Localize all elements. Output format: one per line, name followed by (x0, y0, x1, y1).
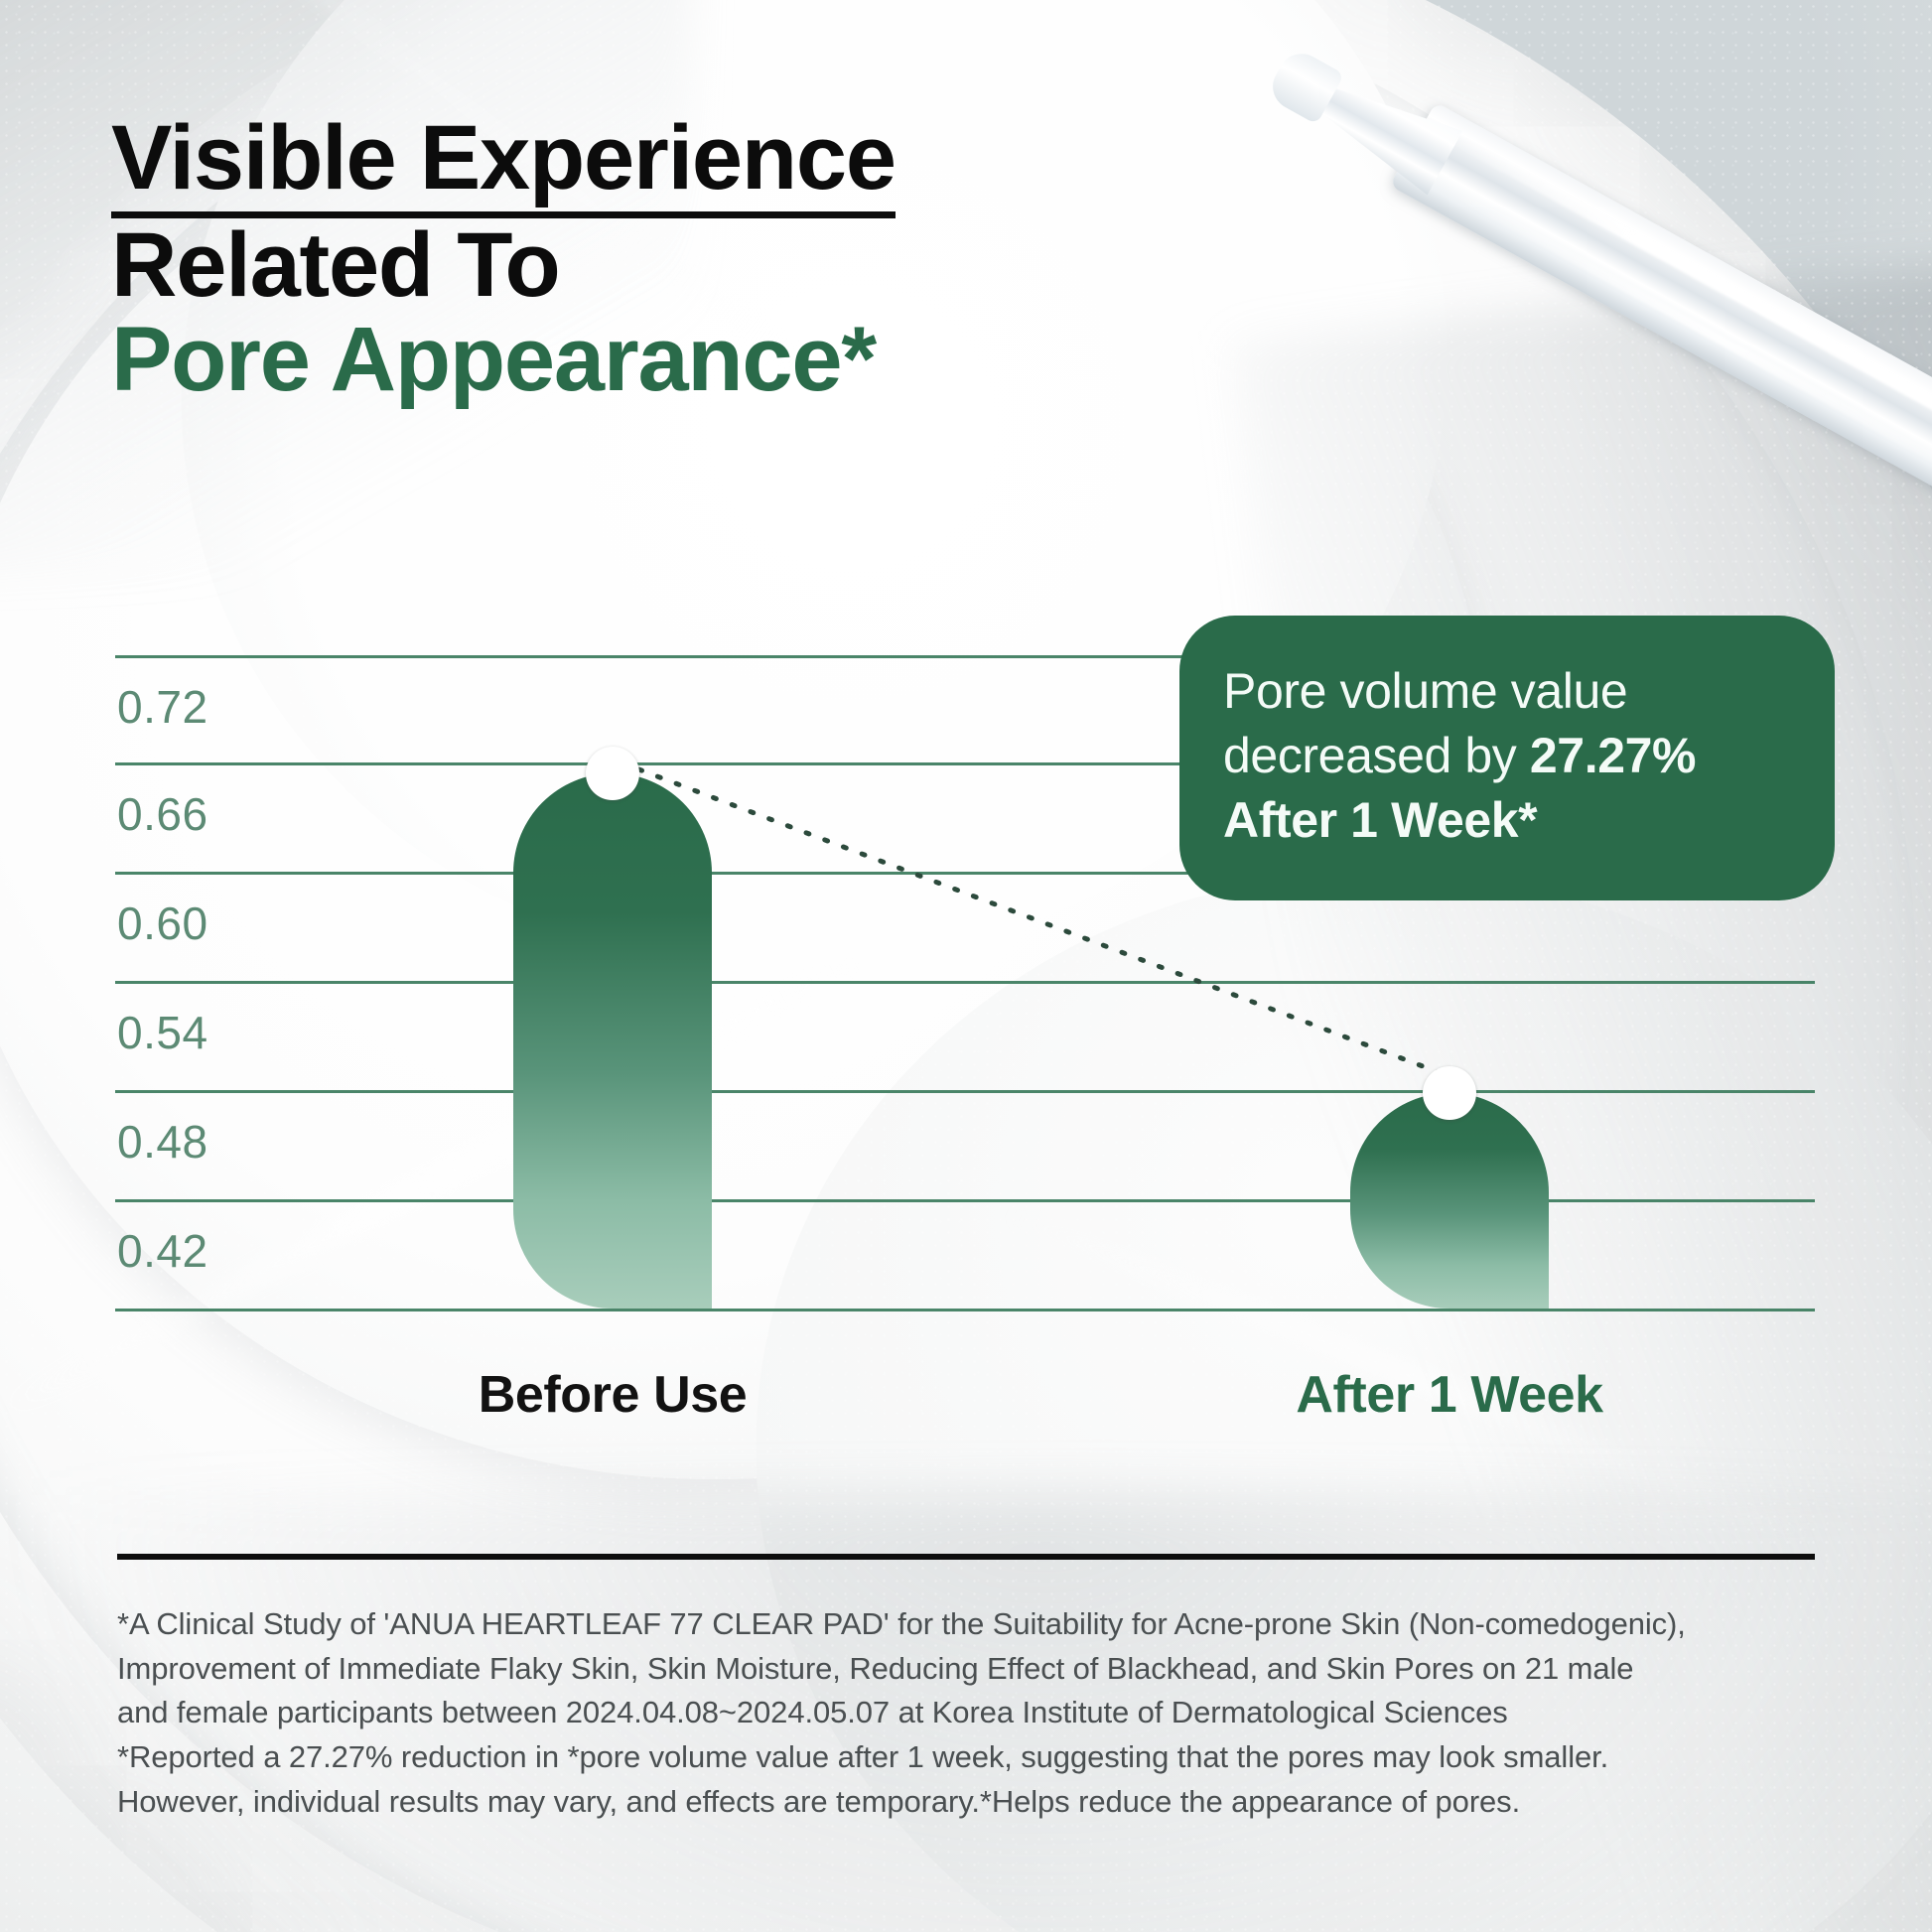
page-title: Visible Experience Related To Pore Appea… (111, 111, 1203, 408)
footnote-line-5: However, individual results may vary, an… (117, 1780, 1835, 1825)
promo-infographic: Visible Experience Related To Pore Appea… (0, 0, 1932, 1932)
footnote-block: *A Clinical Study of 'ANUA HEARTLEAF 77 … (117, 1602, 1835, 1824)
headline-line-1: Visible Experience (111, 111, 896, 218)
callout-period: After 1 Week* (1223, 792, 1537, 848)
footnote-line-4: *Reported a 27.27% reduction in *pore vo… (117, 1735, 1835, 1780)
footer-divider (117, 1554, 1815, 1560)
result-callout-badge: Pore volume value decreased by 27.27% Af… (1179, 616, 1835, 900)
headline-line-2: Related To (111, 218, 1203, 313)
headline-line-3: Pore Appearance* (111, 313, 1203, 407)
footnote-line-3: and female participants between 2024.04.… (117, 1691, 1835, 1735)
footnote-line-1: *A Clinical Study of 'ANUA HEARTLEAF 77 … (117, 1602, 1835, 1647)
callout-percent: 27.27% (1530, 728, 1696, 783)
footnote-line-2: Improvement of Immediate Flaky Skin, Ski… (117, 1647, 1835, 1692)
